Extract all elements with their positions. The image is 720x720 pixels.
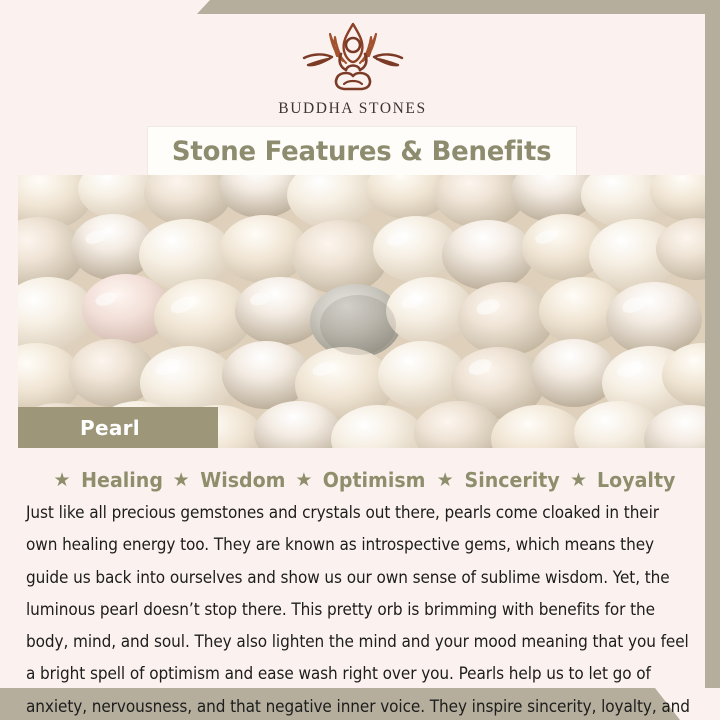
keyword-label: Optimism: [323, 468, 426, 492]
page-title: Stone Features & Benefits: [172, 136, 551, 167]
title-banner: Stone Features & Benefits: [148, 127, 576, 175]
keyword-item-loyalty: ★ Loyalty: [562, 468, 678, 492]
keyword-label: Healing: [81, 468, 163, 492]
star-icon: ★: [437, 471, 454, 490]
star-icon: ★: [54, 471, 71, 490]
brand-name: BUDDHA STONES: [278, 100, 426, 118]
infographic-page: BUDDHA STONES Stone Features & Benefits: [0, 0, 720, 720]
status-badge: Pearl: [18, 407, 218, 448]
decorative-band-right-lower: [705, 640, 720, 688]
keyword-item-sincerity: ★ Sincerity: [429, 468, 562, 492]
keyword-list: ★ Healing ★ Wisdom ★ Optimism ★ Sincerit…: [18, 468, 705, 492]
keyword-item-optimism: ★ Optimism: [287, 468, 428, 492]
keyword-item-healing: ★ Healing: [46, 468, 165, 492]
description-text: Just like all precious gemstones and cry…: [26, 497, 693, 720]
star-icon: ★: [295, 471, 312, 490]
star-icon: ★: [570, 471, 587, 490]
decorative-band-right: [705, 0, 720, 655]
lotus-meditation-icon: [278, 18, 428, 96]
keyword-label: Wisdom: [200, 468, 285, 492]
keyword-item-wisdom: ★ Wisdom: [165, 468, 288, 492]
star-icon: ★: [173, 471, 190, 490]
decorative-band-top-right: [196, 0, 720, 15]
brand-logo: BUDDHA STONES: [0, 18, 705, 118]
stone-name: Pearl: [80, 416, 140, 440]
keyword-label: Sincerity: [464, 468, 559, 492]
keyword-label: Loyalty: [597, 468, 675, 492]
